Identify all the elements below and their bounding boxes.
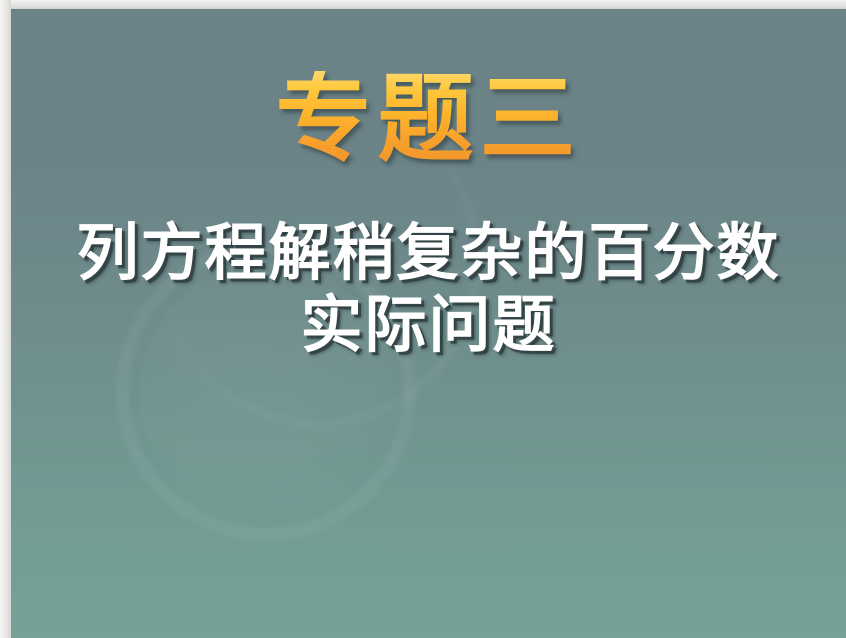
- presentation-slide-frame: 专题三 列方程解稍复杂的百分数 实际问题: [0, 0, 846, 638]
- slide-title-block: 专题三: [11, 71, 846, 167]
- slide-subtitle-line-1: 列方程解稍复杂的百分数: [11, 217, 846, 289]
- slide-canvas: 专题三 列方程解稍复杂的百分数 实际问题: [11, 9, 846, 638]
- slide-frame-top-edge: [0, 0, 846, 9]
- slide-subtitle-block: 列方程解稍复杂的百分数 实际问题: [11, 217, 846, 361]
- slide-wordart-title: 专题三: [276, 71, 582, 167]
- slide-frame-left-edge: [0, 0, 11, 638]
- slide-subtitle-line-2: 实际问题: [11, 289, 846, 361]
